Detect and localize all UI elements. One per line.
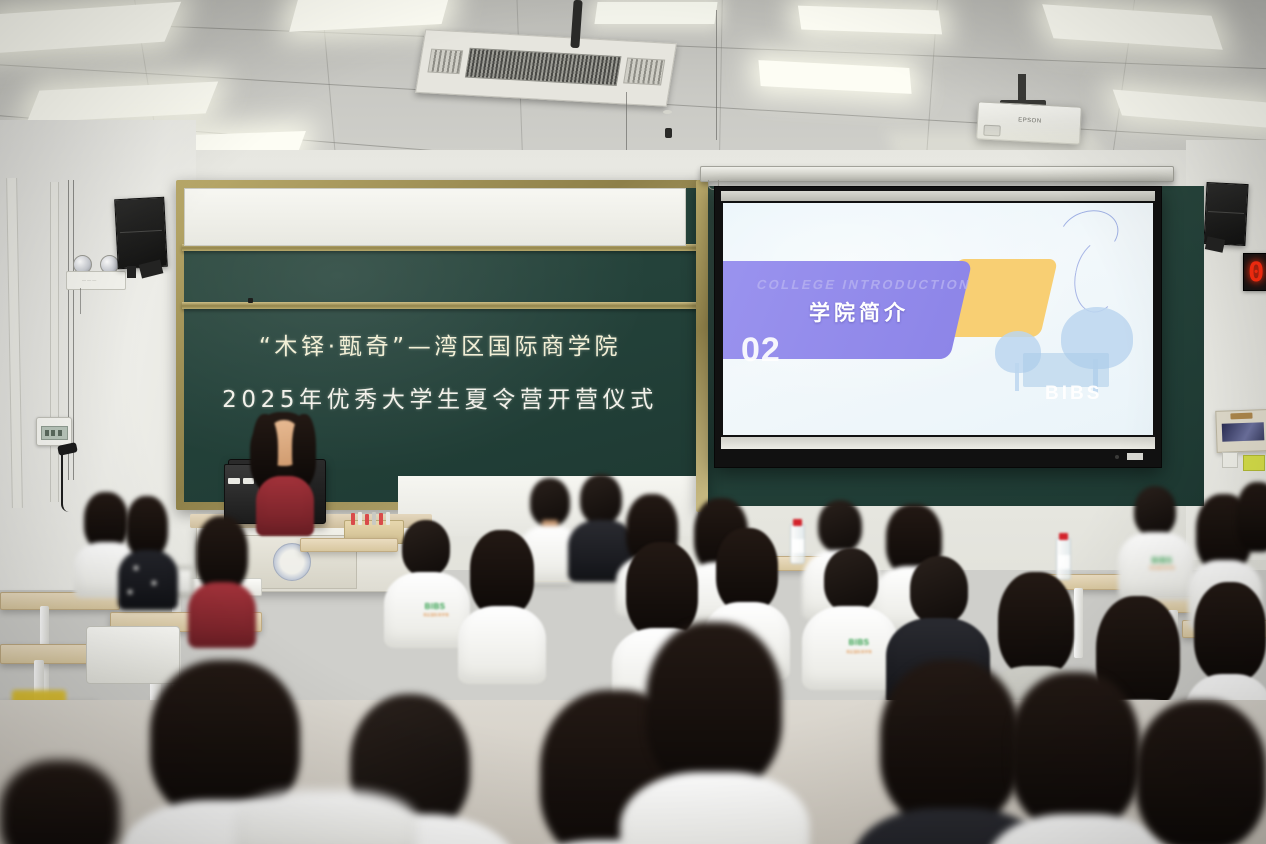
- ac-vent: [427, 49, 463, 75]
- emergency-light-label: — — —: [82, 277, 96, 282]
- projector-brand-label: EPSON: [1018, 117, 1042, 124]
- student-torso: [458, 606, 546, 684]
- notice-board-tab: [1230, 413, 1252, 420]
- thermostat-screen: [41, 426, 68, 440]
- bottle-cap: [1059, 533, 1068, 540]
- smoke-detector: [663, 110, 672, 114]
- marker-pen: [358, 512, 362, 525]
- projection-screen-housing: [700, 166, 1174, 182]
- bottle-label: [791, 539, 804, 553]
- student-torso: [802, 606, 898, 690]
- marker-pen: [365, 514, 369, 525]
- student-head: [910, 556, 968, 624]
- marker-pen: [379, 513, 383, 525]
- wall-socket-plate: [1222, 452, 1238, 468]
- student-hair: [1236, 482, 1266, 552]
- marker-pen: [351, 513, 355, 525]
- ceiling-light-panel: [289, 0, 451, 32]
- gooseneck-microphone-arm: [61, 452, 77, 512]
- student-hair: [1194, 582, 1266, 682]
- student-hair: [646, 622, 782, 790]
- student-hair: [1136, 700, 1266, 844]
- student-hair: [0, 760, 120, 844]
- student-head: [580, 474, 622, 524]
- student-torso: [118, 550, 178, 610]
- student-head: [824, 548, 878, 612]
- student-torso: [236, 790, 416, 844]
- notice-board-content: [1222, 422, 1265, 441]
- water-bottle: [790, 524, 805, 564]
- wall-cable: [73, 180, 74, 480]
- ceiling-light-panel: [798, 6, 942, 35]
- pc-sticker: [243, 478, 254, 484]
- speaker-seam: [120, 230, 162, 233]
- screen-top-bar: [721, 191, 1155, 201]
- ceiling-wire: [716, 10, 717, 140]
- screen-label-badge: [1127, 453, 1143, 460]
- student-head: [818, 500, 862, 552]
- ceiling-light-panel: [758, 60, 911, 94]
- slide-chinese-title: 学院简介: [809, 297, 909, 327]
- student-hair: [1010, 672, 1140, 830]
- ceiling-light-panel: [0, 2, 181, 54]
- ceiling-wire: [626, 92, 627, 152]
- air-conditioner-unit: [415, 29, 677, 107]
- chair-backrest: [86, 626, 180, 684]
- slide-building-decor: [1023, 353, 1109, 387]
- water-bottle: [1056, 538, 1071, 580]
- ceiling-light-panel: [1113, 90, 1266, 129]
- marker-pen: [386, 512, 390, 525]
- blackboard-line-1: “木铎·甄奇”—湾区国际商学院: [184, 327, 696, 361]
- student-desk: [300, 538, 398, 552]
- thermostat-digit: [58, 430, 62, 436]
- student-hair: [998, 572, 1074, 676]
- classroom-scene: EPSON — — —: [0, 0, 1266, 844]
- student-hair: [716, 528, 778, 612]
- screen-bottom-bar: [721, 437, 1155, 449]
- desk-leg: [1074, 588, 1083, 658]
- led-clock-digit: 0: [1248, 257, 1264, 288]
- student-hair: [626, 542, 698, 638]
- slide-bibs-watermark: BIBS: [1045, 383, 1102, 405]
- led-clock-display: 0: [1243, 253, 1266, 291]
- student-hair: [126, 496, 168, 558]
- thermostat-digit: [51, 430, 55, 436]
- blackboard-right-frame: [696, 180, 708, 512]
- projection-screen: COLLEGE INTRODUCTION 学院简介 02 BIBS: [714, 186, 1162, 468]
- student-head: [402, 520, 450, 576]
- blackboard-rail: [182, 302, 698, 309]
- projector-lens: [983, 125, 1001, 137]
- bottle-label: [1057, 555, 1070, 569]
- notice-board: [1215, 409, 1266, 453]
- student-hair: [196, 516, 248, 592]
- pc-sticker: [228, 478, 240, 484]
- bottle-cap: [793, 519, 802, 526]
- screen-indicator-dot: [1115, 455, 1119, 459]
- blackboard-line-2: 2025年优秀大学生夏令营开营仪式: [184, 380, 696, 414]
- student-hair: [880, 660, 1020, 826]
- thermostat-digit: [45, 430, 49, 436]
- marker-pen: [372, 512, 376, 525]
- thermostat-panel[interactable]: [36, 417, 72, 446]
- blackboard-clip: [248, 298, 253, 303]
- projector: EPSON: [976, 101, 1082, 144]
- ac-vent: [623, 58, 665, 86]
- student-torso: [188, 582, 256, 648]
- speaker-seam: [1208, 211, 1243, 214]
- presenter-hair-front: [252, 414, 278, 486]
- smoke-detector: [665, 128, 672, 138]
- slide-english-title: COLLEGE INTRODUCTION: [755, 277, 973, 292]
- shirt-logo: BIBS: [412, 602, 458, 611]
- wall-sticker: [1243, 455, 1265, 471]
- wall-conduit: [50, 182, 59, 502]
- presenter-torso: [256, 476, 314, 536]
- upper-whiteboard-band: [184, 188, 686, 246]
- slide-tree-trunk: [1015, 363, 1019, 391]
- shirt-logo-sub: 湾区国际商学院: [1136, 566, 1188, 571]
- ceiling-light-panel: [27, 81, 218, 122]
- presentation-slide: COLLEGE INTRODUCTION 学院简介 02 BIBS: [723, 203, 1153, 435]
- student-head: [530, 478, 570, 526]
- emergency-light-cable: [80, 288, 81, 314]
- ceiling-light-panel: [1042, 4, 1223, 49]
- shirt-logo-sub: 湾区国际商学院: [408, 613, 464, 618]
- shirt-logo: BIBS: [1142, 556, 1182, 565]
- student-hair: [470, 530, 534, 616]
- student-head: [1134, 486, 1176, 536]
- slide-section-number: 02: [741, 331, 781, 370]
- presenter-hair-front: [292, 414, 316, 484]
- speaker-bracket: [127, 266, 136, 278]
- shirt-logo: BIBS: [834, 638, 884, 647]
- shirt-logo-sub: 湾区国际商学院: [830, 650, 888, 655]
- ceiling-light-panel: [594, 2, 717, 24]
- ac-grille: [465, 48, 622, 86]
